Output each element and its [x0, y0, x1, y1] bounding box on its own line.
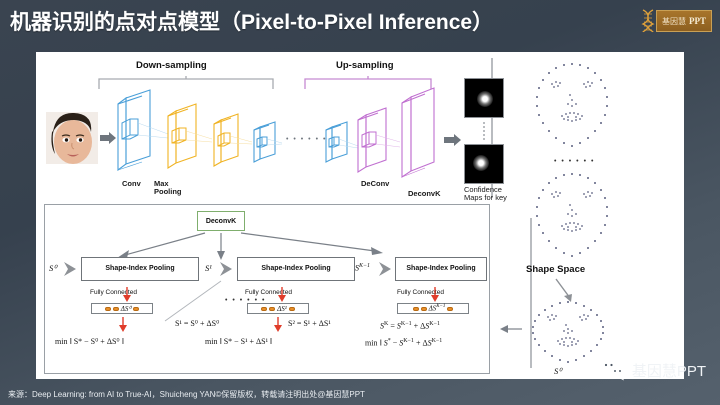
page-title: 机器识别的点对点模型（Pixel-to-Pixel Inference） — [10, 6, 493, 36]
conv-label: Conv — [122, 180, 141, 189]
maxpool-label: Max Pooling — [154, 180, 182, 196]
pill-icon — [105, 307, 111, 311]
brand-ppt-label: PPT — [689, 16, 706, 26]
watermark-label: 基因慧PPT — [632, 360, 706, 381]
network-ellipsis-1: • • • • • • — [286, 136, 327, 143]
shape-point-cloud-1 — [524, 60, 620, 152]
pill-icon — [289, 307, 295, 311]
stage-2-loss-formula: min ‖ S* − S¹ + ΔS¹ ‖ — [205, 337, 272, 346]
deconvk-source-box[interactable]: DeconvK — [197, 211, 245, 231]
pill-icon — [413, 307, 419, 311]
shape-point-cloud-2 — [524, 170, 620, 262]
stage-2-loss-arrow-icon — [274, 317, 282, 333]
stage-3-fc-down-arrow-icon — [431, 287, 439, 303]
stage-3-delta-label: ΔSK−1 — [429, 304, 446, 312]
pill-icon — [113, 307, 119, 311]
up-sampling-label: Up-sampling — [336, 60, 394, 71]
stage-1-fc-down-arrow-icon — [123, 287, 131, 303]
network-diagram: Down-sampling Up-sampling — [36, 52, 491, 200]
deconvk-label: DeconvK — [408, 190, 441, 199]
dna-helix-icon — [640, 9, 656, 33]
conv-layer-3 — [252, 122, 282, 166]
deconv-label: DeConv — [361, 180, 389, 189]
pipeline-mid-ellipsis: • • • • • • — [225, 297, 266, 304]
brand-cn-label: 基因慧 — [662, 16, 686, 27]
brand-plate: 基因慧 PPT — [656, 10, 712, 32]
shape-point-cloud-s0 — [520, 300, 616, 366]
stage-1-connector — [163, 281, 223, 323]
footer-bar: 来源：Deep Learning: from AI to True-AI，Shu… — [0, 383, 720, 405]
wechat-icon — [600, 359, 626, 381]
stage-1-loss-formula: min ‖ S* − S⁰ + ΔS⁰ ‖ — [55, 337, 124, 346]
shape-space-ellipsis: • • • • • • — [554, 158, 595, 165]
watermark: 基因慧PPT — [600, 359, 706, 381]
output-arrow-icon — [444, 134, 461, 146]
stage-2-delta-label: ΔS¹ — [277, 305, 287, 313]
stage-2-update-formula: S² = S¹ + ΔS¹ — [288, 319, 331, 328]
stage-2-input-label: S¹ — [205, 263, 212, 273]
stage-1-delta-label: ΔS⁰ — [121, 305, 131, 313]
pill-icon — [447, 307, 453, 311]
confidence-map-ellipsis — [483, 122, 485, 142]
stage-3-delta-box[interactable]: ΔSK−1 — [397, 303, 469, 314]
pipeline-panel: DeconvK S⁰ Shape-Index Pooling Fully Con… — [44, 204, 490, 374]
stage-2-fc-down-arrow-icon — [278, 287, 286, 303]
deconv-layer — [356, 108, 394, 178]
brand-logo: 基因慧 PPT — [640, 8, 712, 34]
shape-space-area: • • • • • • — [498, 52, 684, 379]
input-face-photo — [46, 112, 98, 164]
stage-1-input-arrow-icon — [63, 261, 79, 277]
stage-1-input-label: S⁰ — [49, 263, 57, 274]
footer-source-text: 来源：Deep Learning: from AI to True-AI，Shu… — [8, 389, 365, 400]
maxpool-layer-1 — [166, 104, 204, 174]
stage-3-update-formula: SK = SK−1 + ΔSK−1 — [380, 321, 440, 331]
stage-2-input-arrow-icon — [219, 261, 235, 277]
maxpool-layer-2 — [212, 114, 246, 170]
pill-icon — [421, 307, 427, 311]
input-arrow-icon — [100, 132, 116, 144]
stage-3-shape-index-pooling[interactable]: Shape-Index Pooling — [395, 257, 487, 281]
stage-2-delta-box[interactable]: ΔS¹ — [247, 303, 309, 314]
pill-icon — [261, 307, 267, 311]
stage-3-input-arrow-icon — [378, 261, 394, 277]
pill-icon — [133, 307, 139, 311]
conv-layer-1 — [116, 90, 158, 182]
conv-layer-4 — [324, 122, 354, 166]
stage-1-shape-index-pooling[interactable]: Shape-Index Pooling — [81, 257, 199, 281]
stage-3-loss-formula: min ‖ S* − SK−1 + ΔSK−1 — [365, 338, 442, 348]
title-bar: 机器识别的点对点模型（Pixel-to-Pixel Inference） — [0, 0, 720, 42]
shape-space-label: Shape Space — [526, 264, 585, 275]
s0-shape-label: S⁰ — [554, 366, 562, 377]
deconvk-layer — [400, 88, 442, 186]
down-sampling-label: Down-sampling — [136, 60, 207, 71]
pill-icon — [269, 307, 275, 311]
feedback-arrow-icon — [500, 324, 522, 334]
stage-2-shape-index-pooling[interactable]: Shape-Index Pooling — [237, 257, 355, 281]
stage-1-delta-box[interactable]: ΔS⁰ — [91, 303, 153, 314]
stage-1-loss-arrow-icon — [119, 317, 127, 333]
stage-3-input-label: SK−1 — [355, 263, 370, 273]
slide-panel: Down-sampling Up-sampling — [36, 52, 684, 379]
down-sampling-bracket — [98, 76, 274, 90]
maxpool-label-line2: Pooling — [154, 187, 182, 196]
